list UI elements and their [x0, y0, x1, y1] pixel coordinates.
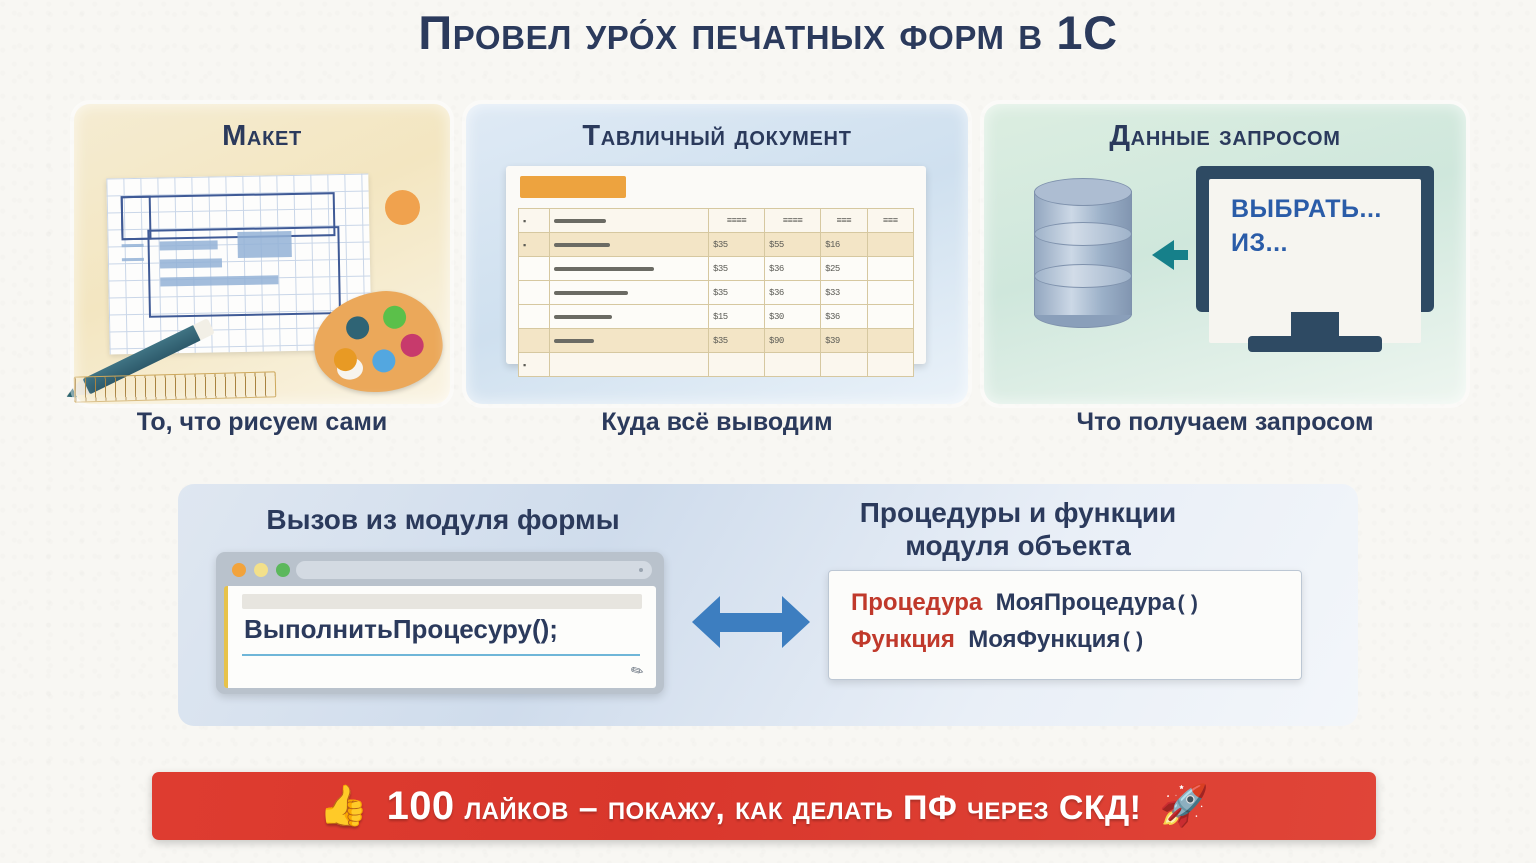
traffic-light-maximize-icon[interactable] [276, 563, 290, 577]
orange-paint-dot-icon [385, 190, 420, 225]
caption-layout: То, что рисуем сами [74, 408, 450, 437]
cta-message: лайков – покажу, как делать ПФ через СКД… [455, 789, 1142, 827]
table-row: $35$36$25 [519, 257, 914, 281]
table-row: $15$30$36 [519, 305, 914, 329]
keyword-procedure: Процедура [851, 589, 982, 616]
code-line-procedure: Процедура МояПроцедура() [851, 585, 1301, 622]
code-editor-pane[interactable]: ВыполнитьПроцесуру(); ✎ [224, 586, 656, 688]
object-module-code-box: Процедура МояПроцедура() Функция МояФунк… [828, 570, 1302, 680]
query-line-1: ВЫБРАТЬ... [1231, 193, 1421, 227]
traffic-light-minimize-icon[interactable] [254, 563, 268, 577]
function-name: МояФункция [968, 626, 1120, 653]
thumbs-up-icon: 👍 [319, 786, 369, 826]
pen-icon: ✎ [628, 660, 648, 682]
table-row: ▪$35$55$16 [519, 233, 914, 257]
procedure-name: МояПроцедура [996, 589, 1176, 616]
cta-text: 100 лайков – покажу, как делать ПФ через… [387, 784, 1142, 829]
card-table-heading: Тавличный документ [466, 120, 968, 153]
code-underline [242, 654, 640, 656]
arrow-left-icon [1152, 240, 1174, 270]
bottom-right-heading-line2: модуля объекта [738, 529, 1298, 562]
spreadsheet-icon: ▪ ≡≡≡≡ ≡≡≡≡ ≡≡≡ ≡≡≡ ▪$35$55$16 $35$36$25… [506, 166, 926, 364]
table-row: $35$36$33 [519, 281, 914, 305]
spreadsheet-title-block [520, 176, 626, 198]
card-table-document[interactable]: Тавличный документ ▪ ≡≡≡≡ ≡≡≡≡ ≡≡≡ ≡≡≡ ▪… [466, 104, 968, 404]
function-parens: () [1120, 631, 1145, 654]
card-query-data[interactable]: Данные запросом ВЫБРАТЬ... ИЗ... [984, 104, 1466, 404]
traffic-light-close-icon[interactable] [232, 563, 246, 577]
card-query-heading: Данные запросом [984, 120, 1466, 153]
address-bar[interactable] [296, 561, 652, 579]
bottom-panel: Вызов из модуля формы Процедуры и функци… [178, 484, 1358, 726]
card-layout-heading: Макет [74, 120, 450, 153]
keyword-function: Функция [851, 626, 955, 653]
top-cards-row: Макет Тавличный документ [74, 104, 1466, 404]
cta-banner[interactable]: 👍 100 лайков – покажу, как делать ПФ чер… [152, 772, 1376, 840]
bottom-left-heading: Вызов из модуля формы [208, 504, 678, 536]
form-module-code: ВыполнитьПроцесуру(); [244, 614, 558, 645]
placeholder-line [242, 594, 642, 609]
caption-table-document: Куда всё выводим [466, 408, 968, 437]
spreadsheet-table: ▪ ≡≡≡≡ ≡≡≡≡ ≡≡≡ ≡≡≡ ▪$35$55$16 $35$36$25… [518, 208, 914, 377]
database-icon [1034, 178, 1130, 328]
code-line-function: Функция МояФункция() [851, 622, 1301, 659]
query-line-2: ИЗ... [1231, 227, 1421, 261]
bottom-right-heading: Процедуры и функции модуля объекта [738, 496, 1298, 562]
card-layout[interactable]: Макет [74, 104, 450, 404]
caption-query-data: Что получаем запросом [984, 408, 1466, 437]
monitor-icon: ВЫБРАТЬ... ИЗ... [1196, 166, 1434, 356]
ruler-icon [74, 371, 277, 402]
table-footer-row: ▪ [519, 353, 914, 377]
cta-count: 100 [387, 784, 455, 828]
table-row: $35$90$39 [519, 329, 914, 353]
table-header-row: ▪ ≡≡≡≡ ≡≡≡≡ ≡≡≡ ≡≡≡ [519, 209, 914, 233]
double-arrow-icon [692, 596, 810, 648]
rocket-icon: 🚀 [1159, 786, 1209, 826]
browser-window[interactable]: ВыполнитьПроцесуру(); ✎ [216, 552, 664, 694]
page-title: Провел уро́х печатных форм в 1С [0, 8, 1536, 58]
procedure-parens: () [1175, 594, 1200, 617]
bottom-right-heading-line1: Процедуры и функции [738, 496, 1298, 529]
